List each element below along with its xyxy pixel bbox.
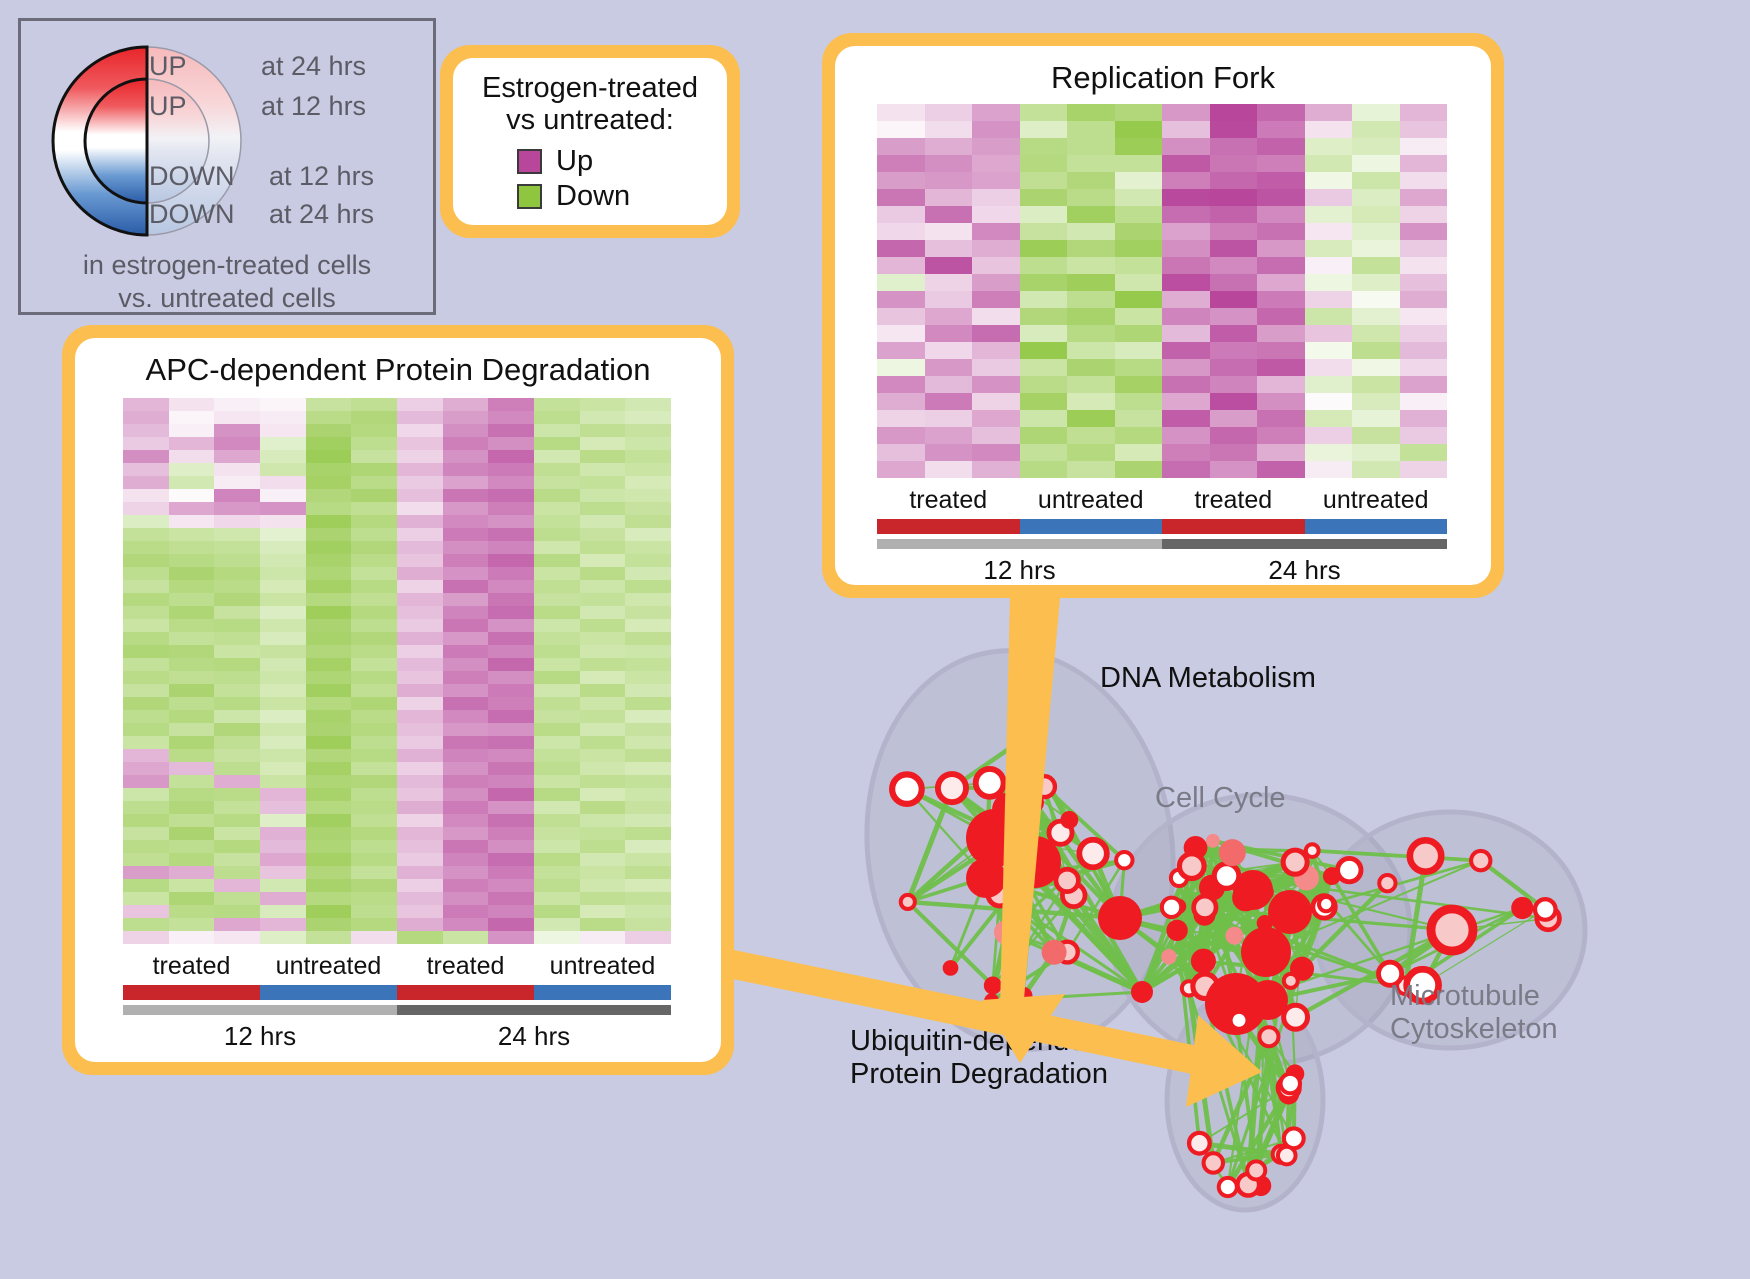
heatmap-cell [877, 393, 925, 410]
heatmap-cell [123, 684, 169, 697]
heatmap-cell [488, 489, 534, 502]
heatmap-cell [397, 905, 443, 918]
heatmap-cell [169, 723, 215, 736]
heatmap-cell [397, 918, 443, 931]
heatmap-cell [260, 398, 306, 411]
heatmap-cell [580, 775, 626, 788]
heatmap-cell [488, 502, 534, 515]
heatmap-cell [1352, 274, 1400, 291]
heatmap-cell [123, 710, 169, 723]
heatmap-cell [306, 398, 352, 411]
heatmap-cell [534, 541, 580, 554]
heatmap-cell [123, 528, 169, 541]
heatmap-cell [625, 528, 671, 541]
heatmap-cell [214, 567, 260, 580]
heatmap-cell [397, 528, 443, 541]
heatmap-cell [1115, 359, 1163, 376]
heatmap-cell [925, 325, 973, 342]
heatmap-cell [1067, 138, 1115, 155]
heatmap-cell [306, 450, 352, 463]
heatmap-cell [169, 918, 215, 931]
heatmap-cell [1115, 104, 1163, 121]
heatmap-cell [1067, 189, 1115, 206]
heatmap-cell [534, 658, 580, 671]
heatmap-cell [306, 723, 352, 736]
heatmap-cell [1257, 274, 1305, 291]
heatmap-cell [488, 606, 534, 619]
heatmap-cell [260, 905, 306, 918]
heatmap-cell [972, 359, 1020, 376]
heatmap-cell [625, 593, 671, 606]
heatmap-cell [625, 749, 671, 762]
heatmap-cell [169, 801, 215, 814]
heatmap-cell [1305, 291, 1353, 308]
legend-head-line2: vs untreated: [453, 104, 727, 136]
heatmap-cell [123, 450, 169, 463]
heatmap-cell [123, 801, 169, 814]
heatmap-cell [306, 853, 352, 866]
heatmap-cell [169, 814, 215, 827]
heatmap-cell [443, 515, 489, 528]
heatmap-cell [443, 684, 489, 697]
heatmap-cell [397, 762, 443, 775]
heatmap-cell [625, 567, 671, 580]
heatmap-cell [1162, 155, 1210, 172]
heatmap-cell [443, 619, 489, 632]
heatmap-cell [488, 541, 534, 554]
heatmap-cell [580, 918, 626, 931]
heatmap-cell [214, 762, 260, 775]
heatmap-cell [397, 723, 443, 736]
heatmap-cell [306, 411, 352, 424]
heatmap-cell [625, 658, 671, 671]
heatmap-cell [1352, 376, 1400, 393]
rf-group-label-1: untreated [1020, 486, 1163, 515]
heatmap-cell [1210, 172, 1258, 189]
heatmap-cell [1067, 427, 1115, 444]
heatmap-cell [580, 684, 626, 697]
heatmap-cell [1257, 189, 1305, 206]
heatmap-cell [351, 866, 397, 879]
key-label-up-12: UP [149, 91, 187, 121]
heatmap-cell [1020, 376, 1068, 393]
heatmap-cell [169, 866, 215, 879]
heatmap-cell [351, 658, 397, 671]
heatmap-cell [1115, 427, 1163, 444]
heatmap-cell [397, 580, 443, 593]
heatmap-cell [925, 189, 973, 206]
heatmap-cell [925, 274, 973, 291]
heatmap-cell [443, 632, 489, 645]
heatmap-cell [488, 840, 534, 853]
apc-panel-inner: APC-dependent Protein Degradation treate… [75, 338, 721, 1062]
heatmap-cell [1115, 274, 1163, 291]
heatmap-cell [443, 606, 489, 619]
heatmap-cell [214, 411, 260, 424]
rf-group-bar-treated-24 [1162, 519, 1305, 534]
key-time-up-24: at 24 hrs [261, 51, 366, 81]
heatmap-cell [397, 671, 443, 684]
heatmap-cell [877, 206, 925, 223]
heatmap-cell [580, 749, 626, 762]
heatmap-cell [351, 931, 397, 944]
heatmap-cell [972, 155, 1020, 172]
heatmap-cell [397, 515, 443, 528]
heatmap-cell [625, 905, 671, 918]
heatmap-cell [123, 632, 169, 645]
heatmap-cell [877, 189, 925, 206]
heatmap-cell [534, 502, 580, 515]
heatmap-cell [1020, 104, 1068, 121]
heatmap-cell [1162, 410, 1210, 427]
heatmap-cell [625, 502, 671, 515]
heatmap-cell [169, 606, 215, 619]
heatmap-cell [488, 684, 534, 697]
heatmap-cell [488, 424, 534, 437]
heatmap-cell [1162, 257, 1210, 274]
heatmap-cell [260, 840, 306, 853]
apc-time-label-24: 24 hrs [397, 1021, 671, 1052]
legend-item-list: Up Down [453, 145, 727, 213]
heatmap-cell [1115, 291, 1163, 308]
heatmap-cell [1400, 342, 1448, 359]
heatmap-cell [214, 398, 260, 411]
heatmap-cell [877, 172, 925, 189]
heatmap-cell [214, 671, 260, 684]
heatmap-cell [1210, 342, 1258, 359]
key-label-down-24: DOWN [149, 199, 234, 229]
heatmap-cell [260, 632, 306, 645]
heatmap-cell [169, 892, 215, 905]
heatmap-cell [1257, 376, 1305, 393]
apc-group-label-1: untreated [260, 952, 397, 981]
heatmap-cell [1352, 223, 1400, 240]
heatmap-cell [351, 697, 397, 710]
heatmap-cell [1162, 325, 1210, 342]
apc-group-label-0: treated [123, 952, 260, 981]
heatmap-cell [397, 502, 443, 515]
heatmap-cell [580, 424, 626, 437]
heatmap-cell [123, 606, 169, 619]
heatmap-cell [877, 325, 925, 342]
heatmap-cell [534, 398, 580, 411]
heatmap-cell [1305, 393, 1353, 410]
heatmap-cell [488, 736, 534, 749]
heatmap-cell [534, 931, 580, 944]
heatmap-cell [214, 515, 260, 528]
heatmap-cell [580, 619, 626, 632]
heatmap-cell [260, 619, 306, 632]
heatmap-cell [1162, 223, 1210, 240]
heatmap-cell [260, 411, 306, 424]
heatmap-cell [1020, 308, 1068, 325]
heatmap-cell [1067, 104, 1115, 121]
heatmap-cell [214, 619, 260, 632]
heatmap-cell [972, 206, 1020, 223]
heatmap-cell [625, 827, 671, 840]
heatmap-cell [214, 463, 260, 476]
heatmap-cell [534, 827, 580, 840]
heatmap-cell [351, 515, 397, 528]
colour-key-box: UP at 24 hrs UP at 12 hrs DOWN at 12 hrs… [18, 18, 436, 315]
heatmap-cell [877, 274, 925, 291]
heatmap-cell [925, 461, 973, 478]
heatmap-cell [580, 632, 626, 645]
heatmap-cell [1257, 104, 1305, 121]
heatmap-cell [1115, 308, 1163, 325]
heatmap-cell [397, 606, 443, 619]
heatmap-cell [1400, 206, 1448, 223]
heatmap-cell [397, 814, 443, 827]
heatmap-cell [1210, 427, 1258, 444]
replication-fork-group-bars [877, 519, 1447, 534]
heatmap-cell [534, 411, 580, 424]
heatmap-cell [625, 541, 671, 554]
rf-group-bar-untreated-12 [1020, 519, 1163, 534]
heatmap-cell [1400, 155, 1448, 172]
heatmap-cell [1305, 342, 1353, 359]
heatmap-cell [580, 892, 626, 905]
heatmap-cell [1352, 138, 1400, 155]
heatmap-cell [351, 476, 397, 489]
heatmap-cell [580, 723, 626, 736]
heatmap-cell [123, 814, 169, 827]
heatmap-cell [1352, 342, 1400, 359]
heatmap-cell [169, 541, 215, 554]
heatmap-cell [169, 398, 215, 411]
heatmap-cell [214, 658, 260, 671]
heatmap-cell [169, 528, 215, 541]
heatmap-cell [625, 632, 671, 645]
heatmap-cell [123, 541, 169, 554]
heatmap-cell [306, 593, 352, 606]
heatmap-cell [443, 710, 489, 723]
heatmap-cell [1400, 461, 1448, 478]
heatmap-cell [925, 138, 973, 155]
heatmap-cell [1020, 461, 1068, 478]
heatmap-cell [1210, 206, 1258, 223]
heatmap-cell [625, 554, 671, 567]
heatmap-cell [123, 788, 169, 801]
heatmap-cell [443, 528, 489, 541]
heatmap-cell [214, 476, 260, 489]
heatmap-cell [443, 918, 489, 931]
heatmap-cell [306, 918, 352, 931]
heatmap-cell [169, 450, 215, 463]
heatmap-cell [123, 515, 169, 528]
heatmap-cell [1352, 410, 1400, 427]
heatmap-cell [488, 710, 534, 723]
heatmap-cell [351, 762, 397, 775]
heatmap-cell [123, 593, 169, 606]
heatmap-cell [443, 879, 489, 892]
heatmap-cell [351, 632, 397, 645]
replication-fork-inner: Replication Fork treated untreated treat… [835, 46, 1491, 585]
cluster-label-microtubule-cytoskeleton-text: MicrotubuleCytoskeleton [1390, 980, 1558, 1045]
apc-title: APC-dependent Protein Degradation [75, 338, 721, 388]
heatmap-cell [1162, 291, 1210, 308]
heatmap-cell [534, 437, 580, 450]
heatmap-cell [1162, 138, 1210, 155]
heatmap-cell [1352, 206, 1400, 223]
replication-fork-time-bars [877, 539, 1447, 549]
heatmap-cell [123, 736, 169, 749]
heatmap-cell [1020, 240, 1068, 257]
heatmap-cell [534, 476, 580, 489]
heatmap-cell [1115, 410, 1163, 427]
heatmap-cell [877, 155, 925, 172]
heatmap-cell [625, 736, 671, 749]
heatmap-cell [1210, 308, 1258, 325]
heatmap-cell [260, 723, 306, 736]
heatmap-cell [306, 879, 352, 892]
heatmap-cell [351, 671, 397, 684]
heatmap-cell [169, 671, 215, 684]
heatmap-cell [1305, 461, 1353, 478]
heatmap-cell [1162, 342, 1210, 359]
heatmap-cell [877, 138, 925, 155]
heatmap-cell [580, 736, 626, 749]
heatmap-cell [443, 775, 489, 788]
heatmap-cell [1115, 376, 1163, 393]
heatmap-cell [260, 437, 306, 450]
heatmap-cell [351, 684, 397, 697]
heatmap-cell [1400, 325, 1448, 342]
heatmap-cell [397, 424, 443, 437]
heatmap-cell [488, 762, 534, 775]
heatmap-cell [1305, 325, 1353, 342]
heatmap-cell [397, 788, 443, 801]
heatmap-cell [488, 905, 534, 918]
heatmap-cell [1067, 342, 1115, 359]
heatmap-cell [625, 697, 671, 710]
heatmap-cell [1020, 155, 1068, 172]
heatmap-cell [1067, 240, 1115, 257]
heatmap-cell [123, 411, 169, 424]
heatmap-cell [169, 853, 215, 866]
heatmap-cell [1210, 121, 1258, 138]
heatmap-cell [1067, 461, 1115, 478]
heatmap-cell [214, 450, 260, 463]
heatmap-cell [351, 580, 397, 593]
heatmap-cell [488, 866, 534, 879]
heatmap-cell [1020, 359, 1068, 376]
heatmap-cell [169, 710, 215, 723]
heatmap-cell [580, 489, 626, 502]
heatmap-cell [625, 879, 671, 892]
heatmap-cell [1210, 325, 1258, 342]
heatmap-cell [443, 658, 489, 671]
heatmap-cell [306, 437, 352, 450]
heatmap-cell [169, 840, 215, 853]
heatmap-cell [214, 424, 260, 437]
heatmap-cell [351, 775, 397, 788]
heatmap-cell [443, 554, 489, 567]
apc-heatmap [123, 398, 671, 944]
cluster-label-dna-metabolism: DNA Metabolism [1100, 662, 1316, 695]
heatmap-cell [1020, 291, 1068, 308]
heatmap-cell [123, 424, 169, 437]
heatmap-cell [1400, 359, 1448, 376]
heatmap-cell [397, 476, 443, 489]
heatmap-cell [123, 762, 169, 775]
heatmap-cell [580, 814, 626, 827]
heatmap-cell [972, 172, 1020, 189]
heatmap-cell [306, 515, 352, 528]
heatmap-cell [123, 645, 169, 658]
legend-swatch-up-icon [517, 149, 542, 174]
legend-swatch-down-icon [517, 184, 542, 209]
heatmap-cell [443, 749, 489, 762]
heatmap-cell [260, 710, 306, 723]
heatmap-cell [1400, 223, 1448, 240]
heatmap-cell [1067, 155, 1115, 172]
heatmap-cell [1020, 257, 1068, 274]
heatmap-cell [214, 788, 260, 801]
heatmap-cell [580, 658, 626, 671]
heatmap-cell [123, 489, 169, 502]
heatmap-cell [306, 645, 352, 658]
cluster-label-dna-metabolism-text: DNA Metabolism [1100, 662, 1316, 694]
heatmap-cell [1115, 138, 1163, 155]
heatmap-cell [925, 104, 973, 121]
heatmap-cell [1352, 291, 1400, 308]
heatmap-cell [169, 619, 215, 632]
heatmap-cell [1020, 342, 1068, 359]
heatmap-cell [877, 223, 925, 240]
apc-panel: APC-dependent Protein Degradation treate… [62, 325, 734, 1075]
heatmap-cell [123, 905, 169, 918]
heatmap-cell [488, 619, 534, 632]
heatmap-cell [260, 489, 306, 502]
heatmap-cell [443, 723, 489, 736]
heatmap-cell [580, 541, 626, 554]
heatmap-cell [925, 206, 973, 223]
heatmap-cell [488, 788, 534, 801]
heatmap-cell [972, 121, 1020, 138]
heatmap-cell [1020, 410, 1068, 427]
heatmap-cell [534, 567, 580, 580]
key-footer-line1: in estrogen-treated cells [21, 249, 433, 282]
heatmap-cell [488, 775, 534, 788]
heatmap-cell [443, 437, 489, 450]
heatmap-cell [1210, 393, 1258, 410]
heatmap-cell [351, 606, 397, 619]
heatmap-cell [1020, 189, 1068, 206]
heatmap-cell [625, 476, 671, 489]
heatmap-cell [443, 814, 489, 827]
heatmap-cell [1305, 410, 1353, 427]
heatmap-cell [488, 931, 534, 944]
heatmap-cell [488, 853, 534, 866]
heatmap-cell [1067, 308, 1115, 325]
heatmap-cell [1020, 206, 1068, 223]
heatmap-cell [1162, 240, 1210, 257]
key-time-down-24: at 24 hrs [269, 199, 374, 229]
heatmap-cell [580, 606, 626, 619]
heatmap-cell [351, 411, 397, 424]
heatmap-cell [1067, 393, 1115, 410]
heatmap-cell [351, 567, 397, 580]
heatmap-cell [1162, 427, 1210, 444]
heatmap-cell [306, 801, 352, 814]
heatmap-cell [877, 308, 925, 325]
legend-item-up: Up [517, 145, 727, 178]
heatmap-cell [1257, 223, 1305, 240]
cluster-label-cell-cycle: Cell Cycle [1155, 782, 1286, 815]
heatmap-cell [397, 567, 443, 580]
apc-group-bar-treated-24 [397, 985, 534, 1000]
